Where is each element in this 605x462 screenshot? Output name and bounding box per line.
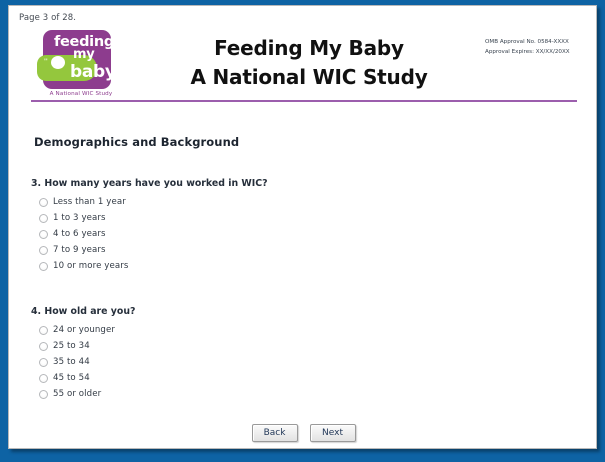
radio-button-icon[interactable]	[39, 374, 48, 383]
radio-option-row[interactable]: 1 to 3 years	[31, 210, 551, 226]
section-heading: Demographics and Background	[34, 135, 239, 149]
radio-option-label: 24 or younger	[53, 325, 115, 335]
question-group-3: 3. How many years have you worked in WIC…	[31, 178, 551, 274]
page-counter: Page 3 of 28.	[19, 13, 76, 23]
logo-word-baby: baby	[70, 64, 116, 81]
radio-option-row[interactable]: 10 or more years	[31, 258, 551, 274]
radio-button-icon[interactable]	[39, 230, 48, 239]
radio-option-row[interactable]: 7 to 9 years	[31, 242, 551, 258]
radio-option-label: 7 to 9 years	[53, 245, 106, 255]
radio-option-row[interactable]: 24 or younger	[31, 322, 551, 338]
back-button[interactable]: Back	[252, 424, 298, 442]
radio-option-label: 45 to 54	[53, 373, 90, 383]
question-text: 3. How many years have you worked in WIC…	[31, 178, 551, 189]
radio-button-icon[interactable]	[39, 214, 48, 223]
navigation-buttons: Back Next	[9, 424, 597, 442]
radio-option-row[interactable]: 55 or older	[31, 386, 551, 402]
study-logo: '' feeding my baby A National WIC Study	[37, 30, 121, 104]
radio-option-row[interactable]: Less than 1 year	[31, 194, 551, 210]
logo-tagline: A National WIC Study	[42, 91, 120, 97]
radio-option-row[interactable]: 45 to 54	[31, 370, 551, 386]
logo-tiny-mark: ''	[44, 58, 48, 65]
radio-option-label: 25 to 34	[53, 341, 90, 351]
radio-option-label: 1 to 3 years	[53, 213, 106, 223]
radio-button-icon[interactable]	[39, 198, 48, 207]
radio-option-label: 4 to 6 years	[53, 229, 106, 239]
omb-approval-number: OMB Approval No. 0584-XXXX	[485, 38, 570, 48]
page-title-line-2: A National WIC Study	[149, 63, 469, 92]
page-title-line-1: Feeding My Baby	[149, 34, 469, 63]
radio-button-icon[interactable]	[39, 390, 48, 399]
page-title: Feeding My Baby A National WIC Study	[149, 34, 469, 92]
survey-viewport: Page 3 of 28. '' feeding my baby A Natio…	[0, 0, 605, 462]
radio-option-row[interactable]: 35 to 44	[31, 354, 551, 370]
question-text: 4. How old are you?	[31, 306, 551, 317]
radio-button-icon[interactable]	[39, 246, 48, 255]
logo-white-dot-icon	[51, 56, 65, 69]
radio-option-label: Less than 1 year	[53, 197, 126, 207]
question-group-4: 4. How old are you? 24 or younger 25 to …	[31, 306, 551, 402]
radio-button-icon[interactable]	[39, 326, 48, 335]
radio-option-label: 10 or more years	[53, 261, 128, 271]
radio-option-label: 55 or older	[53, 389, 101, 399]
survey-page-card: Page 3 of 28. '' feeding my baby A Natio…	[8, 5, 597, 449]
radio-option-row[interactable]: 4 to 6 years	[31, 226, 551, 242]
logo-word-my: my	[73, 48, 94, 61]
omb-expiration-date: Approval Expires: XX/XX/20XX	[485, 48, 570, 58]
radio-button-icon[interactable]	[39, 342, 48, 351]
radio-button-icon[interactable]	[39, 358, 48, 367]
omb-approval-notice: OMB Approval No. 0584-XXXX Approval Expi…	[485, 38, 570, 58]
radio-button-icon[interactable]	[39, 262, 48, 271]
next-button[interactable]: Next	[310, 424, 356, 442]
radio-option-label: 35 to 44	[53, 357, 90, 367]
survey-header: '' feeding my baby A National WIC Study …	[9, 28, 597, 106]
radio-option-row[interactable]: 25 to 34	[31, 338, 551, 354]
header-divider	[31, 100, 577, 102]
